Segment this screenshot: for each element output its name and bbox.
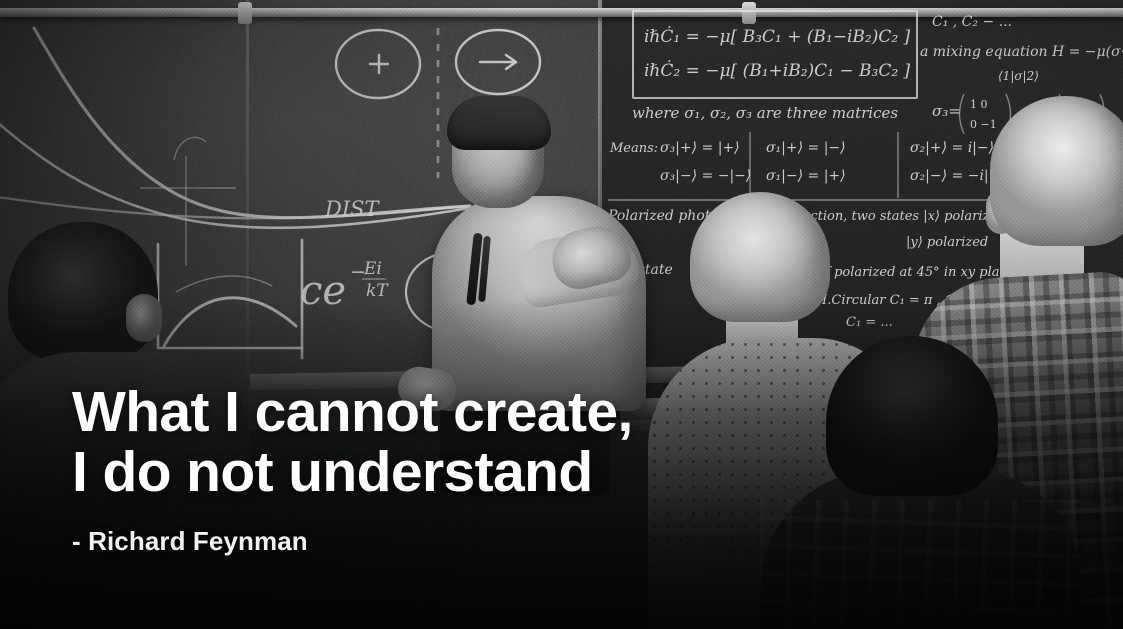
quote-card: DIST ce − Ei kT xyxy=(0,0,1123,629)
quote-text: What I cannot create, I do not understan… xyxy=(72,382,792,502)
quote-attribution: - Richard Feynman xyxy=(72,526,308,557)
